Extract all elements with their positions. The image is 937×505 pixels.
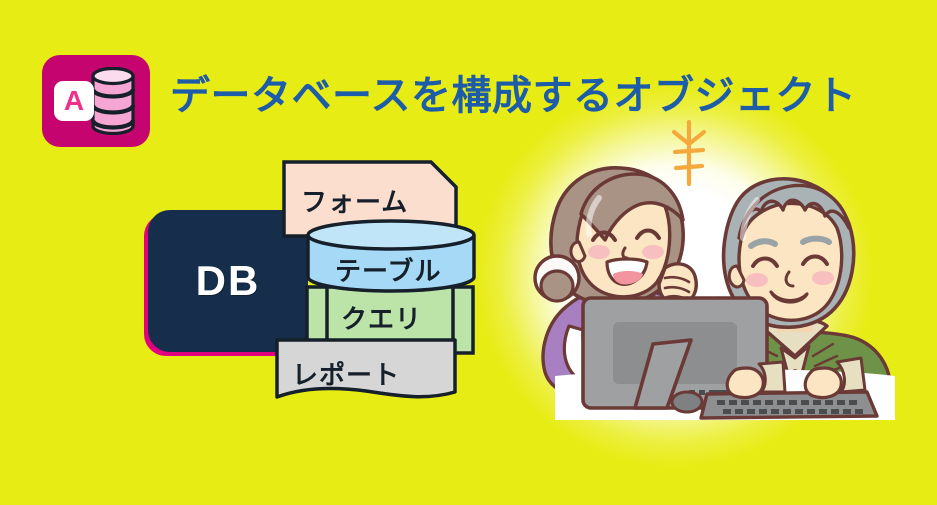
database-box-label: DB	[196, 257, 261, 305]
query-card-label: クエリ	[341, 299, 422, 336]
woman-cheek-left	[588, 245, 610, 259]
woman-hair-bun-inner	[541, 271, 573, 301]
microsoft-access-icon: A	[42, 55, 150, 147]
table-card-label: テーブル	[335, 251, 441, 288]
man-hand-right	[805, 368, 841, 398]
table-card: テーブル	[305, 219, 477, 298]
poster-canvas: A データベースを構成するオブジェクト DB クエリ フォーム	[0, 0, 937, 505]
access-letter-tile: A	[54, 81, 94, 121]
form-card-label: フォーム	[301, 182, 408, 219]
man-eyebrow-right	[803, 239, 829, 242]
woman-cheek-right	[642, 245, 664, 259]
access-letter: A	[64, 87, 84, 115]
man-cheek-left	[746, 273, 768, 287]
two-people-at-computer-illustration	[495, 100, 895, 420]
man-cheek-right	[812, 271, 834, 285]
mouse	[672, 392, 702, 412]
man-hand-left	[727, 368, 763, 398]
database-cylinder-icon	[90, 67, 136, 135]
report-card-label: レポート	[292, 355, 400, 392]
report-card: レポート	[274, 337, 458, 408]
